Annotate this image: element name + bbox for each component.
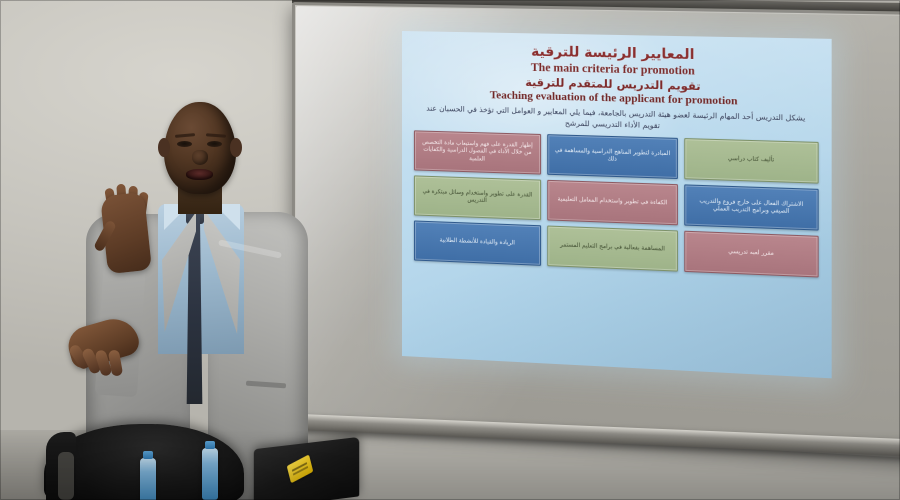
criteria-box: إظهار القدرة على فهم واستيعاب مادة التخص… [414,131,541,175]
ear-right [230,138,242,157]
chair-backrest-gap [58,452,74,500]
head [164,102,236,194]
bottle-cap [205,441,215,449]
criteria-box: المبادرة لتطوير المناهج الدراسية والمساه… [547,134,678,179]
criteria-box: الكفاءة في تطوير واستخدام المعامل التعلي… [547,180,678,225]
criteria-box: تأليف كتاب دراسي [684,138,818,184]
water-bottle [140,458,156,500]
classroom-photo: المعايير الرئيسة للترقية The main criter… [0,0,900,500]
water-bottle [202,448,218,500]
laptop [254,437,359,500]
eye-left [177,141,192,147]
criteria-box: الريادة والقيادة للأنشطة الطلابية [414,221,541,266]
eye-right [207,141,222,147]
mouth [186,169,213,180]
projected-slide: المعايير الرئيسة للترقية The main criter… [402,31,832,378]
nose [192,150,208,165]
criteria-box: الاشتراك الفعال على خارج فروع والتدريب ا… [684,185,818,231]
bottle-cap [143,451,153,459]
criteria-box: مقرر لعبه تدريسي [684,231,818,278]
ear-left [158,138,170,157]
criteria-grid: تأليف كتاب دراسيالمبادرة لتطوير المناهج … [414,131,819,278]
laptop-sticker [287,454,314,483]
criteria-box: القدرة على تطوير واستخدام وسائل مبتكرة ف… [414,176,541,221]
slide-body-arabic: يشكل التدريس أحد المهام الرئيسة لعضو هيئ… [418,103,814,136]
sticker-text [292,462,307,472]
criteria-box: المساهمة بفعالية في برامج التعليم المستم… [547,226,678,272]
